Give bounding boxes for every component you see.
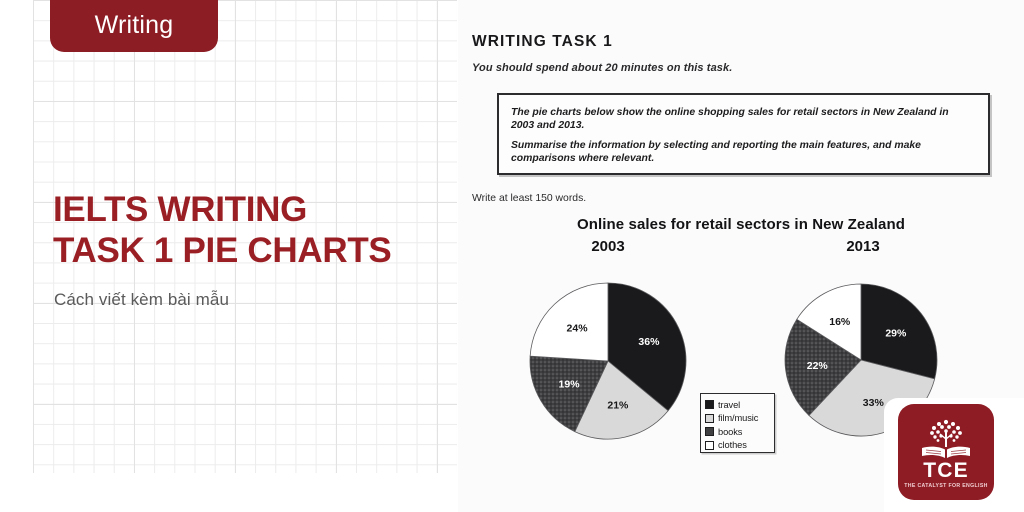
page-title: IELTS WRITING TASK 1 PIE CHARTS	[53, 189, 453, 271]
prompt-paragraph-2: Summarise the information by selecting a…	[511, 139, 973, 165]
writing-badge: Writing	[50, 0, 218, 52]
pie-value-label: 29%	[885, 327, 907, 339]
legend-swatch-books-icon	[705, 427, 714, 436]
tree-book-icon	[918, 415, 974, 461]
legend-item-film-music: film/music	[705, 412, 771, 425]
legend-swatch-travel-icon	[705, 400, 714, 409]
legend-label-travel: travel	[718, 400, 740, 410]
legend-label-clothes: clothes	[718, 440, 747, 450]
tce-logo: TCE THE CATALYST FOR ENGLISH	[898, 404, 994, 500]
legend-swatch-clothes-icon	[705, 441, 714, 450]
legend-swatch-film-music-icon	[705, 414, 714, 423]
legend-item-books: books	[705, 425, 771, 438]
poster-canvas: Writing IELTS WRITING TASK 1 PIE CHARTS …	[0, 0, 1024, 512]
pie-value-label: 22%	[807, 360, 829, 372]
logo-wordmark: TCE	[898, 459, 994, 483]
legend-label-books: books	[718, 427, 742, 437]
page-title-line-2: TASK 1 PIE CHARTS	[53, 230, 453, 271]
legend-item-travel: travel	[705, 398, 771, 411]
task-instruction: You should spend about 20 minutes on thi…	[472, 62, 732, 74]
pie-chart-2003: 36%21%19%24%	[528, 281, 688, 441]
chart-year-2013: 2013	[823, 238, 903, 255]
writing-badge-label: Writing	[95, 11, 174, 40]
pie-chart-2003-svg: 36%21%19%24%	[528, 281, 688, 441]
left-panel: Writing IELTS WRITING TASK 1 PIE CHARTS …	[0, 0, 460, 512]
chart-title: Online sales for retail sectors in New Z…	[458, 216, 1024, 233]
pie-value-label: 33%	[863, 397, 885, 409]
page-title-line-1: IELTS WRITING	[53, 190, 307, 229]
word-count-note: Write at least 150 words.	[472, 193, 586, 204]
prompt-paragraph-1: The pie charts below show the online sho…	[511, 106, 973, 132]
pie-value-label: 36%	[638, 336, 660, 348]
pie-value-label: 21%	[607, 400, 629, 412]
pie-value-label: 19%	[559, 379, 581, 391]
task-heading: WRITING TASK 1	[472, 33, 613, 51]
legend-item-clothes: clothes	[705, 439, 771, 452]
pie-value-label: 16%	[829, 316, 851, 328]
pie-value-label: 24%	[567, 323, 589, 335]
page-subtitle: Cách viết kèm bài mẫu	[54, 290, 229, 310]
chart-legend: travel film/music books clothes	[700, 393, 775, 453]
legend-label-film-music: film/music	[718, 413, 758, 423]
chart-year-2003: 2003	[568, 238, 648, 255]
logo-tagline: THE CATALYST FOR ENGLISH	[898, 483, 994, 489]
